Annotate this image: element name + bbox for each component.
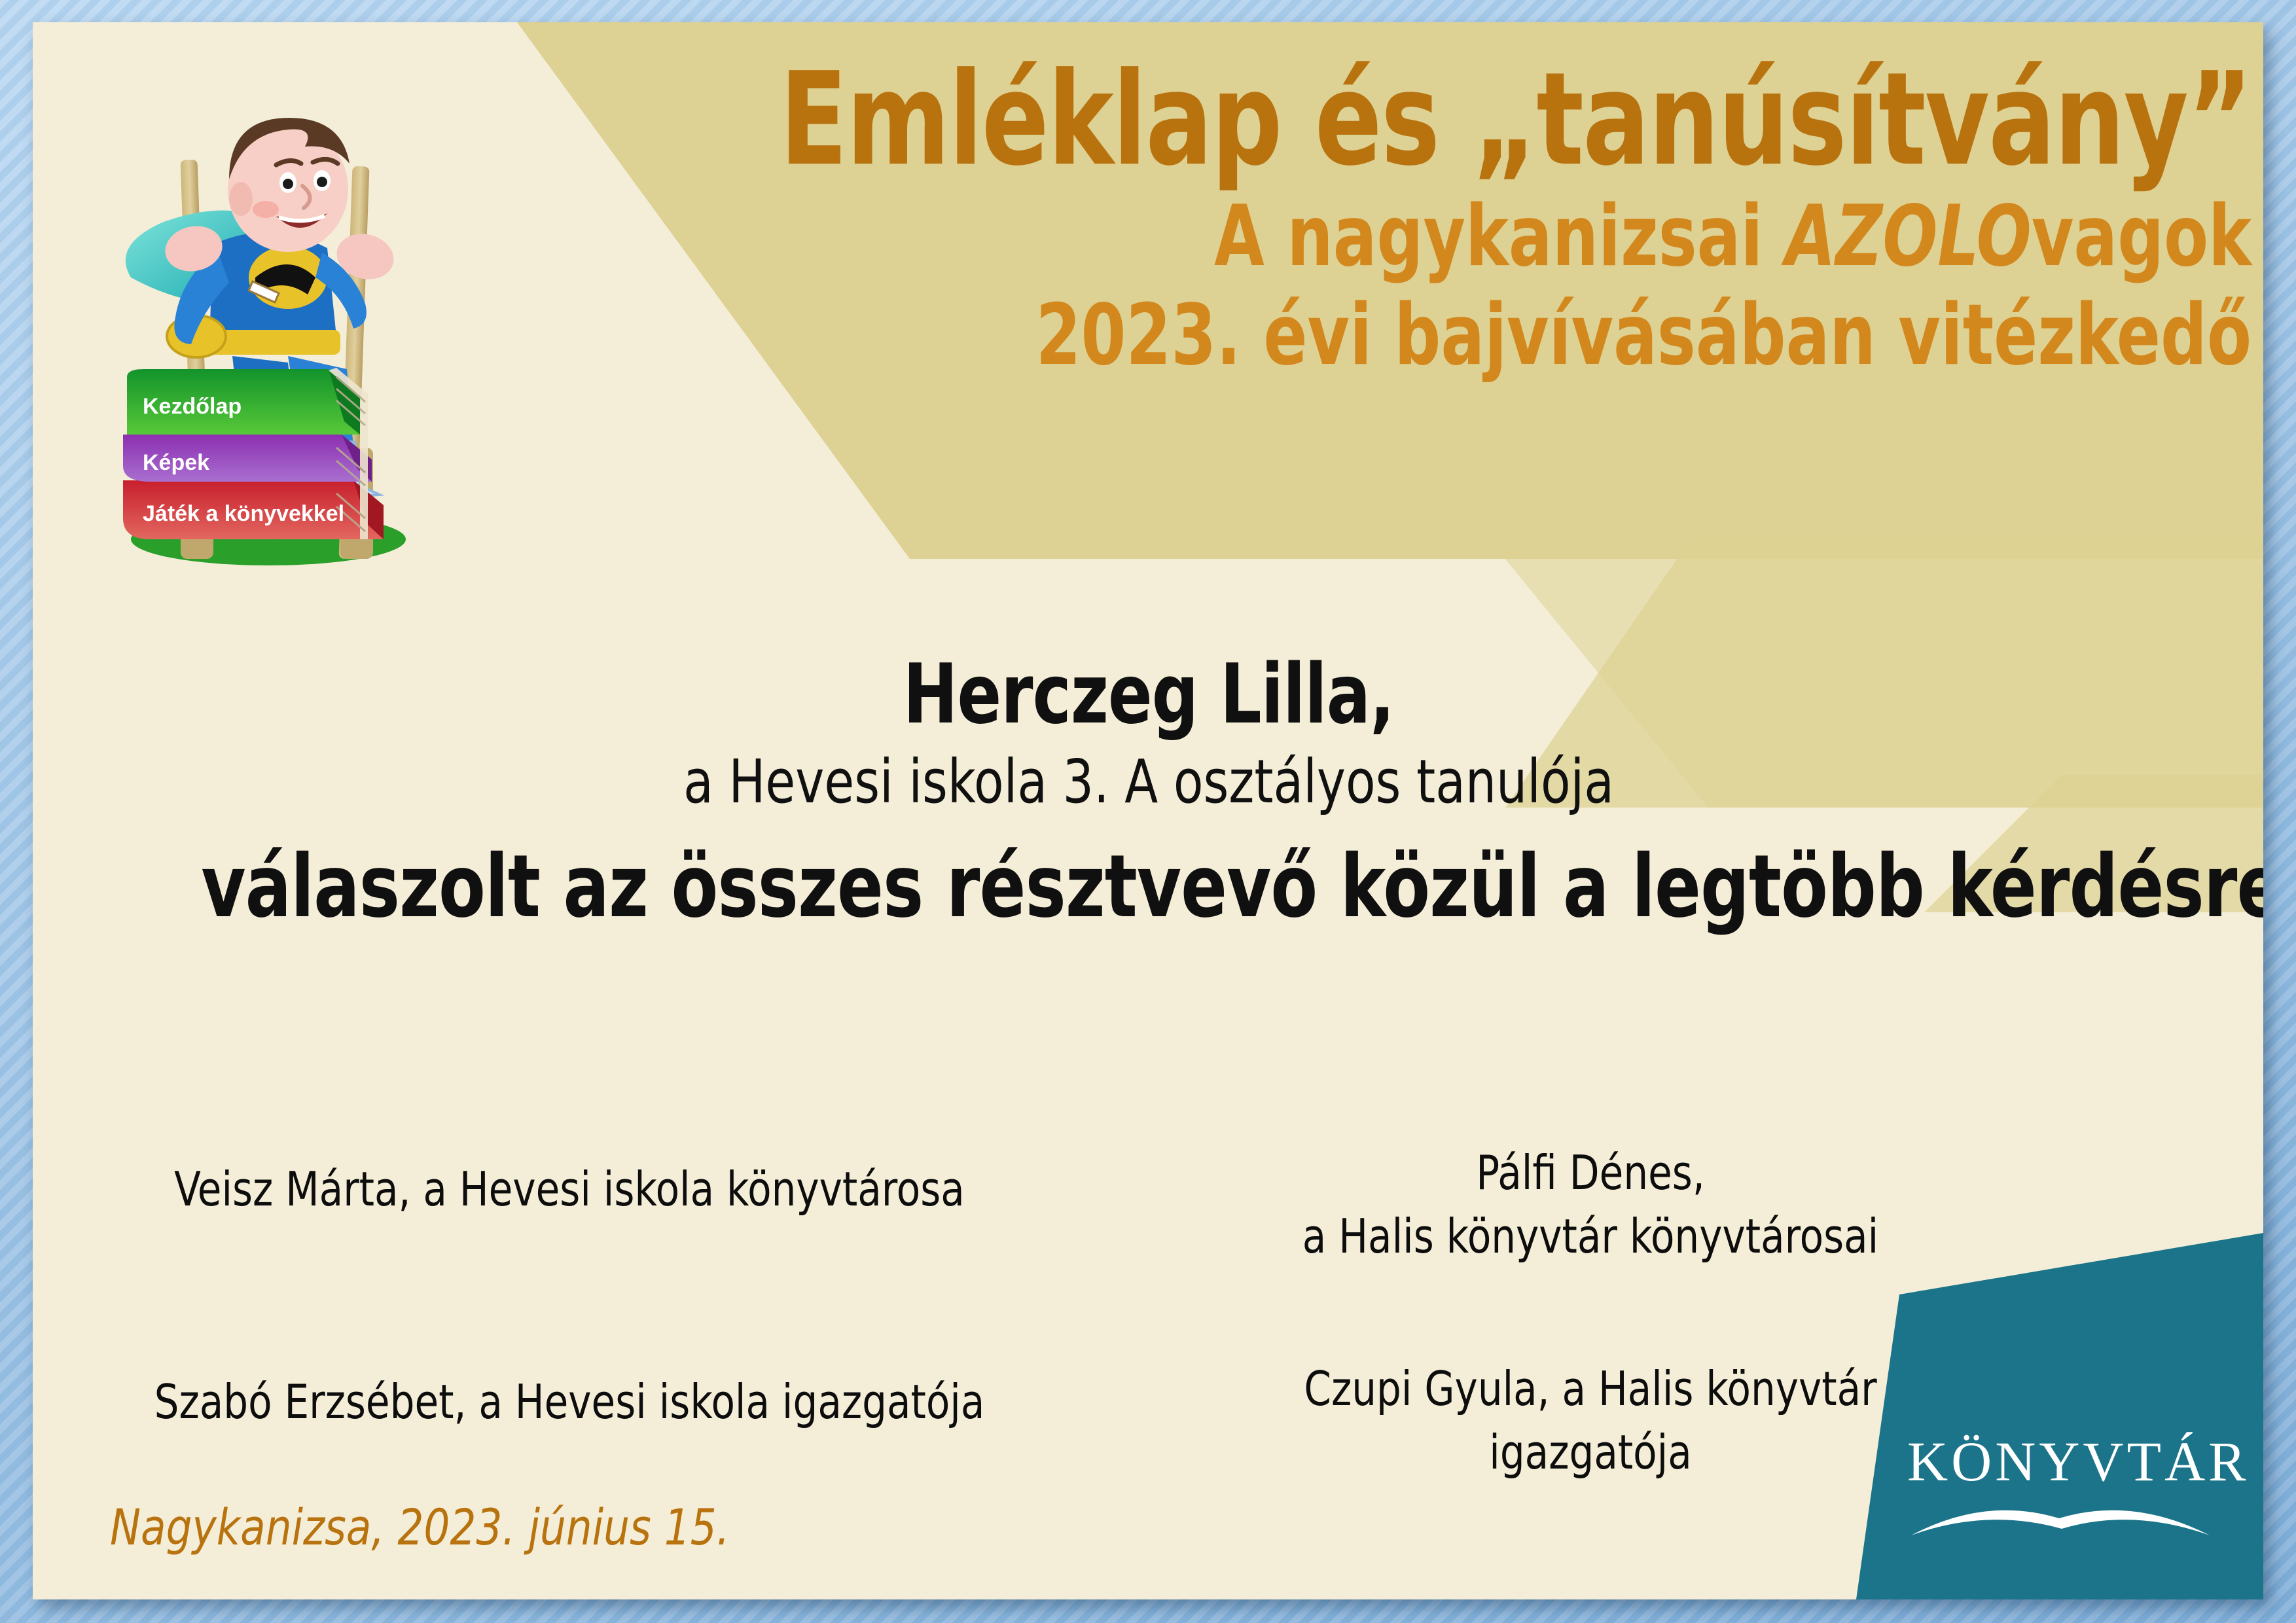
certificate-subtitle-line2: 2023. évi bajvívásában vitézkedő xyxy=(681,286,2251,385)
signature-line: Czupi Gyula, a Halis könyvtár xyxy=(1229,1357,1952,1421)
logo-background-shape xyxy=(1844,1233,2263,1599)
certificate-subtitle-line1: A nagykanizsai AZOLOvagok xyxy=(681,187,2251,286)
subtitle-prefix: A nagykanizsai xyxy=(1214,188,1785,285)
recipient-name: Herczeg Lilla, xyxy=(201,651,2096,738)
logo-wordmark: KÖNYVTÁR xyxy=(1907,1433,2215,1489)
book-label-kepek: Képek xyxy=(143,450,209,475)
library-logo: KÖNYVTÁR xyxy=(1844,1233,2263,1599)
signature-line: a Halis könyvtár könyvtárosai xyxy=(1229,1205,1952,1268)
signature-line: Szabó Erzsébet, a Hevesi iskola igazgató… xyxy=(148,1370,991,1434)
azolovag-mascot-illustration: Kezdőlap Képek Játék a könyvekkel xyxy=(72,81,465,749)
azolo-brand: AZOLO xyxy=(1785,188,2032,285)
book-stack-illustration: Kezdőlap Képek Játék a könyvekkel xyxy=(123,368,384,539)
achievement-text: válaszolt az összes résztvevő közül a le… xyxy=(201,840,2096,935)
certificate-page: Kezdőlap Képek Játék a könyvekkel Emlékl… xyxy=(33,22,2263,1599)
book-label-jatek: Játék a könyvekkel xyxy=(143,501,344,526)
certificate-body: Herczeg Lilla, a Hevesi iskola 3. A oszt… xyxy=(72,651,2225,935)
subtitle-suffix: vagok xyxy=(2032,188,2251,285)
certificate-header: Emléklap és „tanúsítvány” A nagykanizsai… xyxy=(425,54,2251,385)
signature-principal-school: Szabó Erzsébet, a Hevesi iskola igazgató… xyxy=(111,1370,1028,1434)
logo-content: KÖNYVTÁR xyxy=(1907,1433,2215,1543)
signature-line: Veisz Márta, a Hevesi iskola könyvtárosa xyxy=(148,1158,991,1221)
signature-line: Pálfi Dénes, xyxy=(1229,1141,1952,1205)
certificate-title: Emléklap és „tanúsítvány” xyxy=(681,54,2251,187)
signature-librarian-school: Veisz Márta, a Hevesi iskola könyvtárosa xyxy=(111,1158,1028,1221)
book-label-kezdolap: Kezdőlap xyxy=(143,394,242,419)
place-and-date: Nagykanizsa, 2023. június 15. xyxy=(110,1498,730,1556)
recipient-school: a Hevesi iskola 3. A osztályos tanulója xyxy=(180,743,2118,821)
open-book-icon xyxy=(1907,1492,2215,1543)
signature-line: igazgatója xyxy=(1229,1421,1952,1484)
